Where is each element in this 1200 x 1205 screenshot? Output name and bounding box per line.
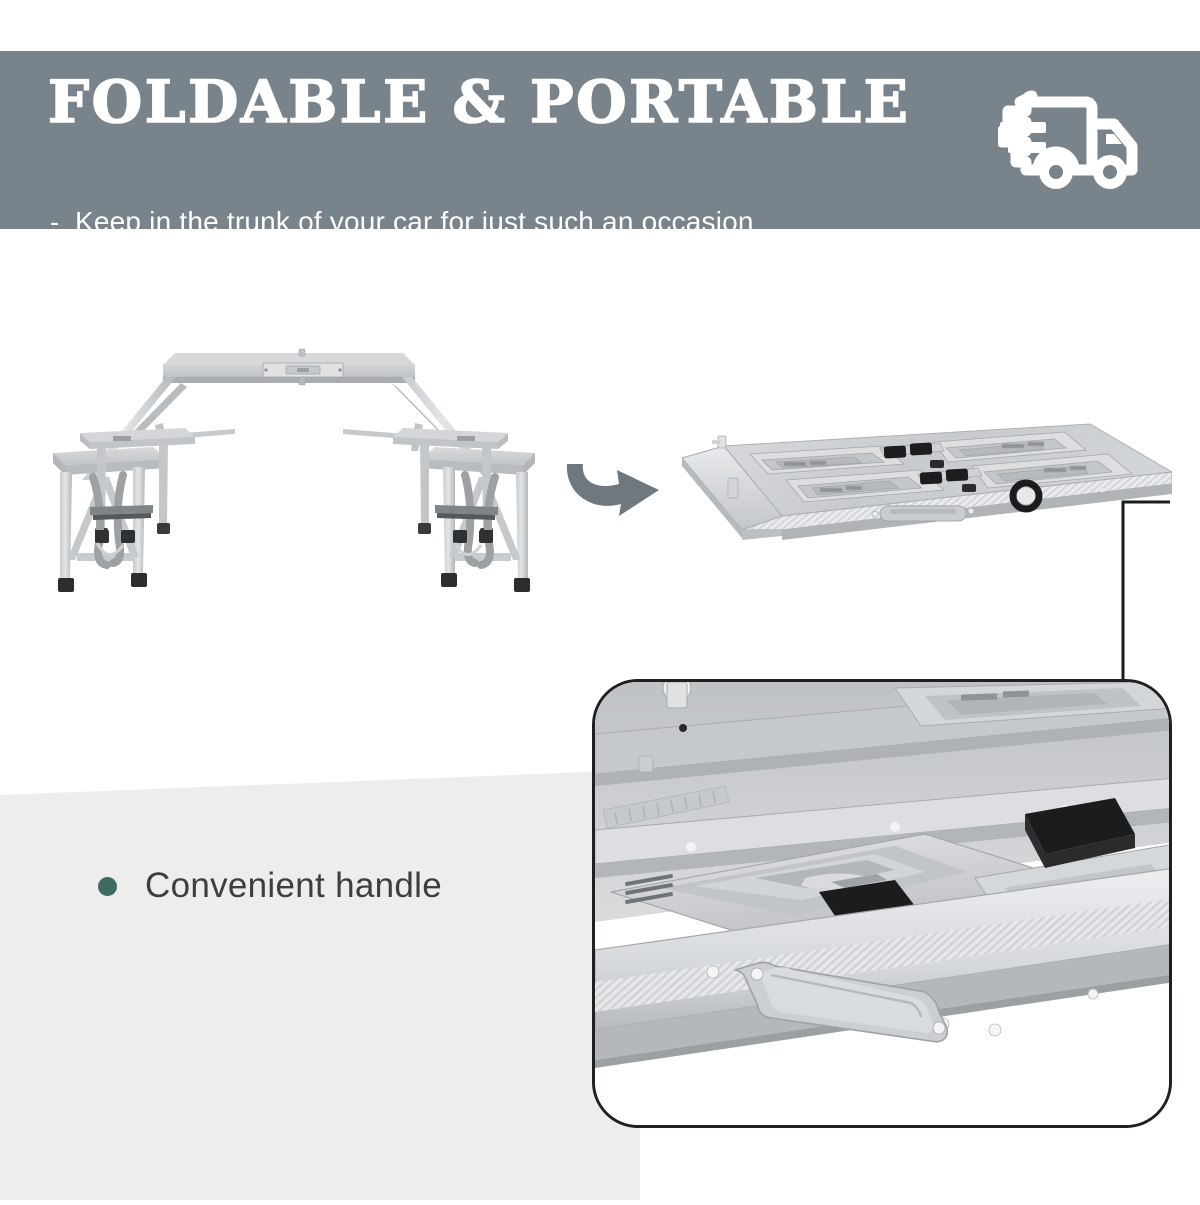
header-banner: FOLDABLE & PORTABLE - Keep in the trunk … — [0, 51, 1200, 229]
feature-label: Convenient handle — [145, 866, 442, 906]
feature-bullet-row: Convenient handle — [98, 866, 442, 906]
page-title: FOLDABLE & PORTABLE — [48, 73, 910, 131]
curved-transform-arrow — [563, 442, 673, 527]
header-subtitle: Keep in the trunk of your car for just s… — [75, 206, 754, 238]
header-subtitle-row: - Keep in the trunk of your car for just… — [50, 206, 754, 238]
product-image-table-open — [35, 325, 555, 620]
subtitle-dash: - — [50, 207, 59, 238]
handle-closeup-zoom-panel — [592, 679, 1172, 1128]
callout-connector-line — [1040, 500, 1180, 690]
delivery-truck-icon — [998, 84, 1138, 196]
background-wedge — [0, 770, 640, 1200]
bullet-point-icon — [98, 877, 117, 896]
